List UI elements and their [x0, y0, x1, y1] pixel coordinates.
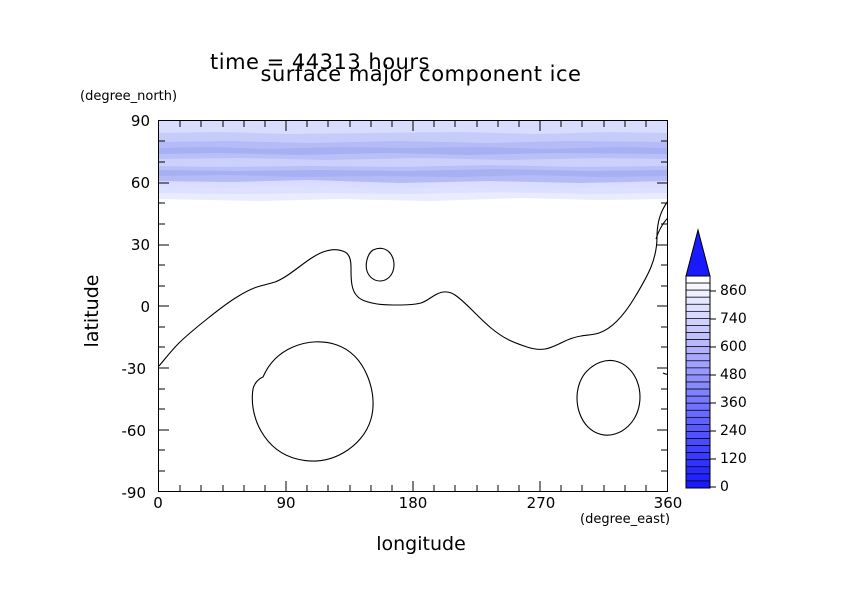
y-tick-label: 60 [104, 174, 150, 192]
colorbar-band [686, 417, 710, 424]
y-tick-label: 30 [104, 236, 150, 254]
colorbar-band [686, 396, 710, 403]
colorbar-band [686, 431, 710, 438]
colorbar-band [686, 481, 710, 488]
y-axis-unit-label: (degree_north) [80, 89, 177, 104]
colorbar-tick-label: 120 [720, 451, 747, 467]
ice-band-3 [159, 158, 667, 167]
colorbar-tick-label: 480 [720, 367, 747, 383]
colorbar-band [686, 325, 710, 332]
x-axis-title: longitude [0, 533, 842, 555]
colorbar-band [686, 340, 710, 347]
colorbar-band [686, 318, 710, 325]
colorbar-band [686, 297, 710, 304]
x-tick-label: 0 [128, 494, 188, 512]
filled-contour-envelope [159, 180, 667, 201]
colorbar-ticks [710, 291, 716, 487]
colorbar-band [686, 304, 710, 311]
y-tick-label: -30 [100, 360, 146, 378]
colorbar-tick-label: 600 [720, 339, 747, 355]
colorbar-band [686, 368, 710, 375]
colorbar-band [686, 474, 710, 481]
plot-area[interactable] [158, 120, 668, 492]
colorbar-band [686, 333, 710, 340]
colorbar-band [686, 460, 710, 467]
colorbar-tick-label: 860 [720, 283, 747, 299]
colorbar-bands [686, 276, 710, 488]
y-axis-title: latitude [81, 211, 103, 411]
colorbar-band [686, 382, 710, 389]
colorbar-band [686, 439, 710, 446]
southwest-landmass-contour [252, 342, 373, 461]
colorbar-band [686, 403, 710, 410]
colorbar-tick-label: 0 [720, 479, 729, 495]
y-tick-label: -60 [100, 422, 146, 440]
colorbar-band [686, 389, 710, 396]
y-tick-label: 90 [104, 112, 150, 130]
colorbar[interactable]: 860 740 600 480 360 240 120 0 [684, 228, 804, 498]
y-tick-label: 0 [104, 298, 150, 316]
colorbar-band [686, 283, 710, 290]
colorbar-band [686, 375, 710, 382]
x-tick-label: 270 [511, 494, 571, 512]
colorbar-band [686, 424, 710, 431]
colorbar-band [686, 354, 710, 361]
title-field: surface major component ice [0, 62, 842, 86]
small-island-contour [366, 248, 394, 281]
colorbar-tick-label: 240 [720, 423, 747, 439]
southeast-landmass-contour [577, 360, 640, 435]
colorbar-arrow-cap [686, 230, 710, 276]
main-landmass-contour [159, 183, 667, 366]
colorbar-band [686, 290, 710, 297]
x-tick-label: 180 [383, 494, 443, 512]
colorbar-band [686, 311, 710, 318]
x-axis-unit-label: (degree_east) [580, 512, 670, 527]
contour-lines [159, 183, 667, 461]
colorbar-band [686, 361, 710, 368]
colorbar-tick-label: 360 [720, 395, 747, 411]
colorbar-band [686, 276, 710, 283]
x-tick-label: 90 [256, 494, 316, 512]
colorbar-band [686, 347, 710, 354]
colorbar-band [686, 453, 710, 460]
bottom-ticks [180, 481, 646, 491]
colorbar-band [686, 410, 710, 417]
colorbar-band [686, 467, 710, 474]
colorbar-tick-label: 740 [720, 311, 747, 327]
colorbar-band [686, 446, 710, 453]
